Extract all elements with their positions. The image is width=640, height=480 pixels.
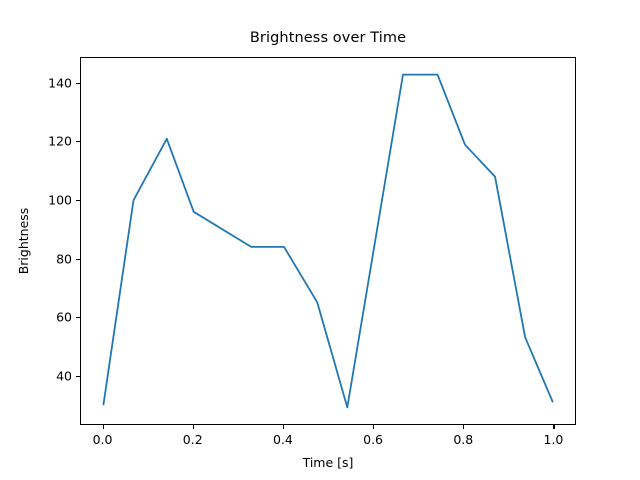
- chart-title: Brightness over Time: [80, 30, 576, 46]
- x-tick-mark: [553, 425, 554, 429]
- y-tick-mark: [76, 83, 80, 84]
- y-tick-mark: [76, 259, 80, 260]
- y-tick-mark: [76, 376, 80, 377]
- x-tick-mark: [373, 425, 374, 429]
- y-tick-mark: [76, 141, 80, 142]
- y-axis-label: Brightness: [13, 57, 35, 425]
- y-tick-mark: [76, 317, 80, 318]
- x-tick-mark: [193, 425, 194, 429]
- x-tick-label: 0.0: [93, 432, 113, 447]
- figure-canvas: Brightness over Time 406080100120140 0.0…: [0, 0, 640, 480]
- series-polyline: [103, 75, 552, 408]
- x-tick-label: 1.0: [543, 432, 563, 447]
- x-tick-label: 0.6: [363, 432, 383, 447]
- y-tick-mark: [76, 200, 80, 201]
- x-tick-mark: [103, 425, 104, 429]
- x-tick-mark: [463, 425, 464, 429]
- x-tick-mark: [283, 425, 284, 429]
- x-tick-label: 0.8: [453, 432, 473, 447]
- x-tick-label: 0.4: [273, 432, 293, 447]
- x-axis-label: Time [s]: [80, 455, 576, 470]
- line-series-brightness: [81, 58, 575, 424]
- plot-area: [80, 57, 576, 425]
- x-tick-label: 0.2: [183, 432, 203, 447]
